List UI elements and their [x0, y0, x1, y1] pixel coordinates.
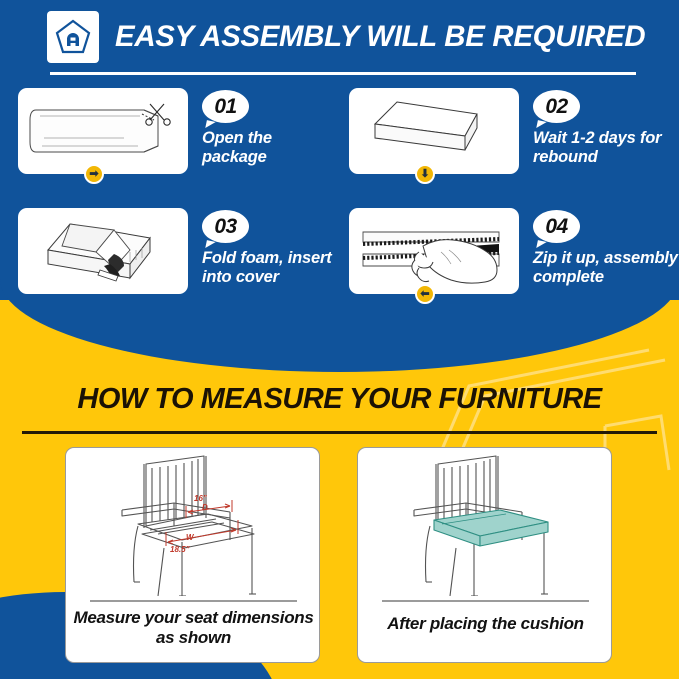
step-02-label: Wait 1-2 days for rebound — [533, 129, 678, 167]
measure-section-title: HOW TO MEASURE YOUR FURNITURE — [0, 383, 679, 416]
seat-depth-label: D — [202, 503, 208, 512]
chair-with-cushion-illustration — [358, 448, 611, 596]
step-03-text: 03 Fold foam, insert into cover — [202, 208, 339, 287]
seat-width-value: 18.5” — [170, 545, 190, 554]
header-divider — [50, 72, 636, 75]
step-01: ➡ 01 Open the package — [0, 88, 339, 174]
step-number-badge: 01 — [202, 90, 249, 123]
arrow-down-icon: ⬇ — [415, 164, 435, 184]
measure-card-dimensions: 16” D W 18.5” Measure your seat dimensio… — [65, 447, 320, 663]
step-03: 03 Fold foam, insert into cover — [0, 208, 339, 294]
flat-foam-slab-illustration: ⬇ — [349, 88, 519, 174]
step-number-badge: 03 — [202, 210, 249, 243]
page-title: EASY ASSEMBLY WILL BE REQUIRED — [115, 20, 645, 54]
house-pentagon-logo-icon — [47, 11, 99, 63]
measure-cards: 16” D W 18.5” Measure your seat dimensio… — [0, 447, 679, 672]
arrow-left-icon: ⬅ — [415, 284, 435, 304]
foam-folded-into-cover-illustration — [18, 208, 188, 294]
step-row-1: ➡ 01 Open the package — [0, 88, 679, 174]
step-row-2: 03 Fold foam, insert into cover — [0, 208, 679, 294]
card-divider — [90, 600, 297, 602]
step-01-label: Open the package — [202, 129, 339, 167]
measure-divider — [22, 431, 657, 434]
rolled-package-with-scissors-illustration: ➡ — [18, 88, 188, 174]
infographic-page: EASY ASSEMBLY WILL BE REQUIRED — [0, 0, 679, 679]
step-04-label: Zip it up, assembly complete — [533, 249, 678, 287]
step-number-badge: 02 — [533, 90, 580, 123]
step-03-label: Fold foam, insert into cover — [202, 249, 339, 287]
seat-depth-value: 16” — [194, 494, 207, 503]
assembly-header: EASY ASSEMBLY WILL BE REQUIRED — [47, 11, 656, 63]
step-02-text: 02 Wait 1-2 days for rebound — [533, 88, 678, 167]
arrow-right-icon: ➡ — [84, 164, 104, 184]
step-04: ⬅ 04 Zip it up, assembly complete — [339, 208, 678, 294]
assembly-steps: ➡ 01 Open the package — [0, 88, 679, 294]
measure-card-cushion: After placing the cushion — [357, 447, 612, 663]
card-divider — [382, 600, 589, 602]
hand-zipping-zipper-illustration: ⬅ — [349, 208, 519, 294]
step-04-text: 04 Zip it up, assembly complete — [533, 208, 678, 287]
step-number-badge: 04 — [533, 210, 580, 243]
step-02: ⬇ 02 Wait 1-2 days for rebound — [339, 88, 678, 174]
measure-card-caption: After placing the cushion — [358, 614, 612, 634]
step-01-text: 01 Open the package — [202, 88, 339, 167]
measure-card-caption: Measure your seat dimensions as shown — [66, 608, 320, 648]
chair-with-seat-dimensions-illustration: 16” D W 18.5” — [66, 448, 319, 596]
